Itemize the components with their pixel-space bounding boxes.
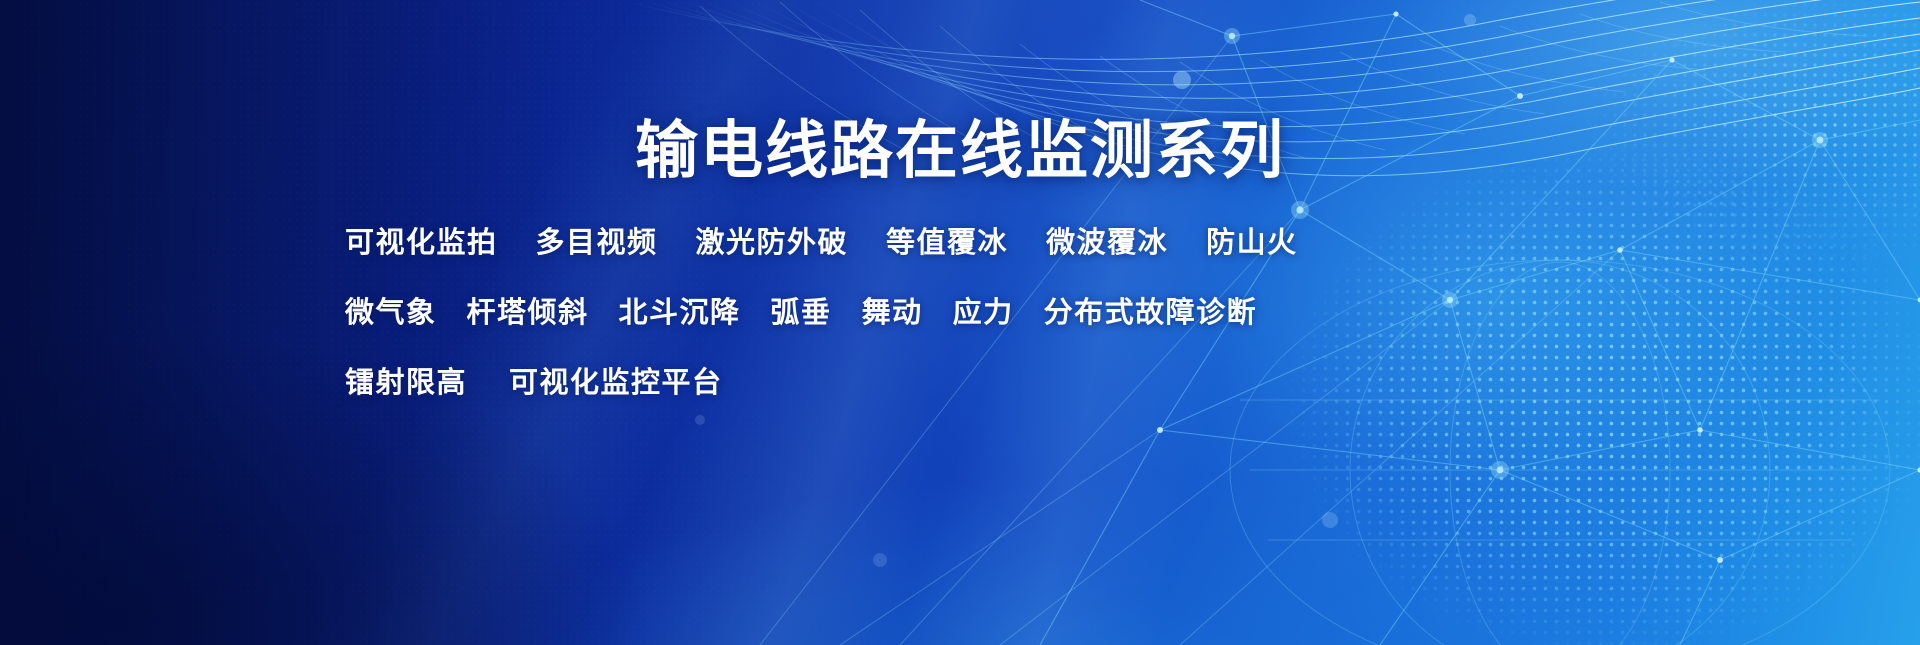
banner-title: 输电线路在线监测系列 (0, 120, 1920, 183)
category-item[interactable]: 等值覆冰 (886, 219, 1008, 261)
category-item[interactable]: 弧垂 (771, 289, 832, 331)
category-item[interactable]: 激光防外破 (696, 219, 849, 261)
category-item[interactable]: 多目视频 (536, 219, 658, 261)
category-item[interactable]: 可视化监控平台 (509, 359, 723, 401)
category-item[interactable]: 防山火 (1206, 219, 1298, 261)
category-row-3: 镭射限高 可视化监控平台 (345, 345, 1345, 415)
category-item[interactable]: 舞动 (862, 289, 923, 331)
hero-banner: 输电线路在线监测系列 可视化监拍 多目视频 激光防外破 等值覆冰 微波覆冰 防山… (0, 0, 1920, 645)
category-item[interactable]: 分布式故障诊断 (1044, 289, 1258, 331)
category-item[interactable]: 可视化监拍 (345, 219, 498, 261)
category-item[interactable]: 镭射限高 (345, 359, 467, 401)
category-item[interactable]: 微气象 (345, 289, 437, 331)
banner-content: 输电线路在线监测系列 可视化监拍 多目视频 激光防外破 等值覆冰 微波覆冰 防山… (0, 0, 1920, 645)
category-item[interactable]: 杆塔倾斜 (467, 289, 589, 331)
category-item[interactable]: 应力 (953, 289, 1014, 331)
category-item[interactable]: 微波覆冰 (1046, 219, 1168, 261)
category-item[interactable]: 北斗沉降 (619, 289, 741, 331)
category-row-2: 微气象 杆塔倾斜 北斗沉降 弧垂 舞动 应力 分布式故障诊断 (345, 275, 1345, 345)
category-row-1: 可视化监拍 多目视频 激光防外破 等值覆冰 微波覆冰 防山火 (345, 205, 1345, 275)
product-category-list: 可视化监拍 多目视频 激光防外破 等值覆冰 微波覆冰 防山火 微气象 杆塔倾斜 … (345, 205, 1345, 415)
